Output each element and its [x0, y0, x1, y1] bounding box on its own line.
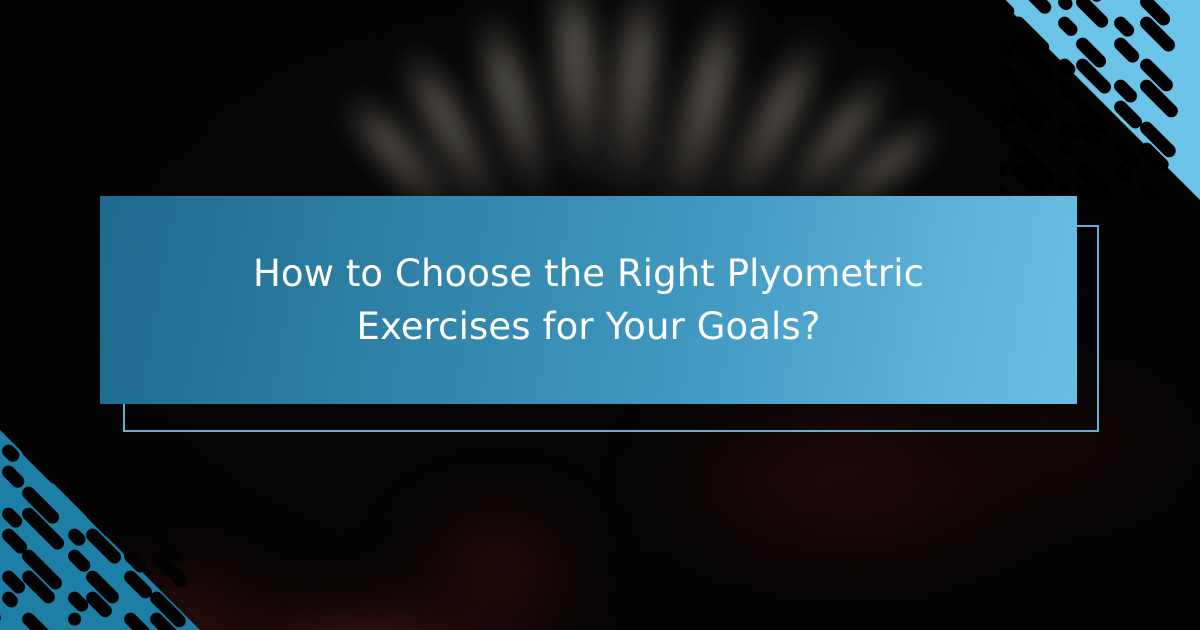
- dash-segment: [1055, 140, 1073, 158]
- dash-segment: [1000, 161, 1008, 180]
- headline-banner: How to Choose the Right Plyometric Exerc…: [100, 196, 1077, 404]
- page-title: How to Choose the Right Plyometric Exerc…: [194, 247, 984, 353]
- dash-segment: [65, 463, 85, 483]
- dash-segment: [121, 505, 151, 535]
- dash-segment: [121, 442, 149, 470]
- corner-decoration-top-right: [1000, 0, 1200, 200]
- dash-segment: [121, 484, 146, 509]
- corner-decoration-bottom-left: [0, 430, 200, 630]
- dash-segment: [1137, 182, 1181, 200]
- banner-stage: How to Choose the Right Plyometric Exerc…: [0, 0, 1200, 630]
